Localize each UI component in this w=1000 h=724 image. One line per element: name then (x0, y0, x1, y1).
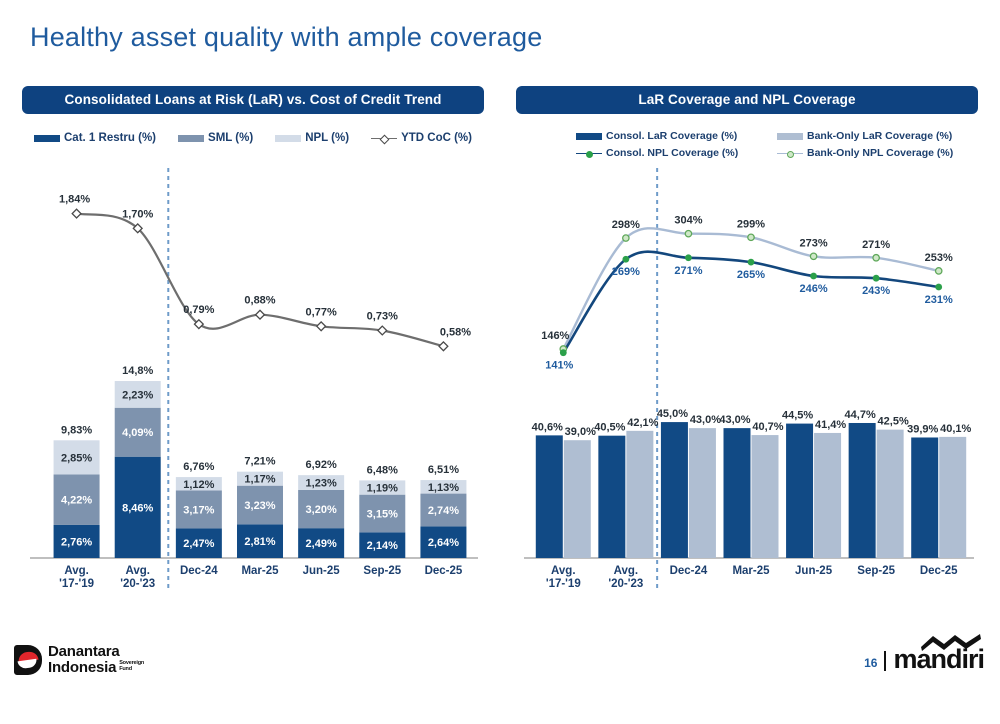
bar-label-consol-lar: 40,5% (594, 422, 625, 434)
x-axis-label: Dec-24 (180, 565, 218, 577)
consol-npl-marker (748, 259, 755, 266)
bank-only-npl-label: 271% (862, 239, 890, 251)
bar-segment-label: 2,76% (61, 536, 92, 548)
ytd-coc-line (77, 214, 444, 347)
bank-only-npl-label: 304% (674, 215, 702, 227)
consol-npl-label: 269% (612, 266, 640, 278)
bar-label-consol-lar: 44,7% (845, 409, 876, 421)
legend-line-marker-consol-npl-coverage (576, 149, 602, 158)
bar-segment-label: 2,64% (428, 537, 459, 549)
x-axis-label: Dec-24 (670, 565, 708, 577)
mandiri-logo: mandiri (893, 637, 984, 673)
consol-npl-label: 141% (545, 360, 573, 372)
ytd-coc-marker (439, 342, 448, 351)
bar-segment-label: 1,13% (428, 482, 459, 494)
bar-segment-label: 2,47% (183, 538, 214, 550)
bar-label-consol-lar: 45,0% (657, 408, 688, 420)
x-axis-label: Avg. (125, 565, 150, 577)
bar-segment-label: 1,12% (183, 479, 214, 491)
bank-only-npl-marker (810, 253, 816, 259)
x-axis-label: Dec-25 (425, 565, 463, 577)
consol-npl-label: 243% (862, 285, 890, 297)
footer-right-group: 16 mandiri (864, 637, 984, 673)
ytd-coc-marker (72, 209, 81, 218)
bar-label-consol-lar: 44,5% (782, 410, 813, 422)
bar-segment-label: 4,09% (122, 427, 153, 439)
bar-label-bank-only-lar: 42,1% (627, 417, 658, 429)
legend-label-ytd-coc: YTD CoC (%) (401, 132, 472, 144)
bar-consol-lar (598, 436, 625, 558)
bar-bank-only-lar (939, 437, 966, 558)
x-axis-label: Avg. (551, 565, 576, 577)
legend-item-bank-only-npl-coverage[interactable]: Bank-Only NPL Coverage (%) (777, 147, 978, 159)
legend-item-bank-only-lar-coverage[interactable]: Bank-Only LaR Coverage (%) (777, 130, 978, 142)
consol-npl-marker (622, 256, 629, 263)
legend-swatch-sml (178, 135, 204, 142)
bar-label-consol-lar: 43,0% (719, 414, 750, 426)
bar-label-bank-only-lar: 43,0% (690, 414, 721, 426)
danantara-logo-line1: Danantara (48, 644, 144, 659)
bar-segment-label: 1,23% (306, 478, 337, 490)
bar-segment-label: 2,85% (61, 452, 92, 464)
right-chart-svg: 40,6%39,0%40,5%42,1%45,0%43,0%43,0%40,7%… (516, 164, 978, 644)
bank-only-npl-marker (936, 268, 942, 274)
bar-segment-label: 3,17% (183, 504, 214, 516)
x-axis-label: '17-'19 (59, 578, 94, 590)
bar-bank-only-lar (564, 440, 591, 558)
consol-npl-label: 265% (737, 269, 765, 281)
legend-swatch-bank-only-lar-coverage (777, 133, 803, 140)
consol-npl-marker (810, 273, 817, 280)
ytd-coc-label: 1,70% (122, 208, 153, 220)
bar-segment-label: 2,49% (306, 538, 337, 550)
x-axis-label: '17-'19 (546, 578, 581, 590)
bar-bank-only-lar (752, 435, 779, 558)
legend-item-ytd-coc[interactable]: YTD CoC (%) (371, 132, 472, 144)
bar-consol-lar (536, 435, 563, 558)
bar-segment-label: 2,14% (367, 540, 398, 552)
bar-label-consol-lar: 39,9% (907, 423, 938, 435)
x-axis-label: Sep-25 (363, 565, 401, 577)
left-chart-header: Consolidated Loans at Risk (LaR) vs. Cos… (22, 86, 484, 114)
consol-npl-marker (560, 349, 567, 356)
legend-item-sml[interactable]: SML (%) (178, 132, 253, 144)
legend-swatch-cat1-restru (34, 135, 60, 142)
bar-segment-label: 2,81% (244, 536, 275, 548)
bar-label-bank-only-lar: 40,7% (752, 421, 783, 433)
x-axis-label: Jun-25 (303, 565, 341, 577)
bar-consol-lar (661, 422, 688, 558)
x-axis-label: Mar-25 (732, 565, 770, 577)
legend-label-bank-only-npl-coverage: Bank-Only NPL Coverage (%) (807, 147, 953, 159)
bar-label-bank-only-lar: 40,1% (940, 423, 971, 435)
consol-npl-marker (685, 254, 692, 261)
bar-total-label: 6,92% (306, 459, 337, 471)
consol-npl-marker (935, 284, 942, 291)
bar-segment-label: 3,23% (244, 500, 275, 512)
consol-npl-label: 246% (800, 283, 828, 295)
legend-label-cat1-restru: Cat. 1 Restru (%) (64, 132, 156, 144)
bar-consol-lar (849, 423, 876, 558)
bar-consol-lar (911, 437, 938, 558)
x-axis-label: '20-'23 (608, 578, 643, 590)
left-chart-svg: 2,76%4,22%2,85%9,83%8,46%4,09%2,23%14,8%… (22, 164, 484, 644)
bar-segment-label: 4,22% (61, 495, 92, 507)
bar-segment-label: 3,15% (367, 509, 398, 521)
legend-line-marker-ytd-coc (371, 134, 397, 143)
legend-label-consol-npl-coverage: Consol. NPL Coverage (%) (606, 147, 738, 159)
consol-npl-marker (873, 275, 880, 282)
right-chart-legend: Consol. LaR Coverage (%) Bank-Only LaR C… (516, 130, 978, 159)
legend-item-npl[interactable]: NPL (%) (275, 132, 349, 144)
bar-total-label: 7,21% (244, 456, 275, 468)
danantara-logo-line2: Indonesia (48, 660, 116, 675)
consol-npl-label: 231% (925, 294, 953, 306)
bank-only-npl-marker (873, 255, 879, 261)
bar-segment-label: 1,17% (244, 474, 275, 486)
x-axis-label: '20-'23 (120, 578, 155, 590)
bar-label-bank-only-lar: 41,4% (815, 419, 846, 431)
ytd-coc-label: 0,79% (183, 304, 214, 316)
footer-divider (884, 651, 886, 671)
ytd-coc-marker (256, 310, 265, 319)
bank-only-npl-label: 299% (737, 218, 765, 230)
x-axis-label: Avg. (64, 565, 89, 577)
legend-label-bank-only-lar-coverage: Bank-Only LaR Coverage (%) (807, 130, 952, 142)
mandiri-wave-icon (920, 633, 982, 651)
page-number: 16 (864, 656, 877, 673)
bank-only-npl-marker (685, 230, 691, 236)
right-chart-panel: LaR Coverage and NPL Coverage Consol. La… (516, 86, 978, 114)
legend-item-cat1-restru[interactable]: Cat. 1 Restru (%) (34, 132, 156, 144)
ytd-coc-label: 0,88% (244, 295, 275, 307)
x-axis-label: Dec-25 (920, 565, 958, 577)
bar-total-label: 9,83% (61, 424, 92, 436)
bar-bank-only-lar (689, 428, 716, 558)
bank-only-npl-marker (623, 235, 629, 241)
ytd-coc-label: 1,84% (59, 194, 90, 206)
legend-swatch-consol-lar-coverage (576, 133, 602, 140)
bar-segment-label: 8,46% (122, 502, 153, 514)
legend-item-consol-lar-coverage[interactable]: Consol. LaR Coverage (%) (576, 130, 777, 142)
consol-npl-label: 271% (674, 265, 702, 277)
bar-consol-lar (724, 428, 751, 558)
bar-total-label: 6,48% (367, 464, 398, 476)
danantara-mark-icon (14, 645, 42, 675)
bar-segment-label: 2,23% (122, 389, 153, 401)
bar-bank-only-lar (814, 433, 841, 558)
bank-only-npl-label: 253% (925, 252, 953, 264)
right-chart-header: LaR Coverage and NPL Coverage (516, 86, 978, 114)
bar-bank-only-lar (626, 431, 653, 558)
bank-only-npl-label: 273% (800, 237, 828, 249)
danantara-logo: Danantara Indonesia Sovereign Fund (14, 644, 144, 675)
legend-item-consol-npl-coverage[interactable]: Consol. NPL Coverage (%) (576, 147, 777, 159)
x-axis-label: Sep-25 (857, 565, 895, 577)
bar-total-label: 14,8% (122, 365, 153, 377)
page-title: Healthy asset quality with ample coverag… (30, 22, 542, 53)
x-axis-label: Avg. (614, 565, 639, 577)
danantara-logo-sub2: Fund (119, 667, 144, 673)
bar-segment-label: 1,19% (367, 483, 398, 495)
slide-footer: Danantara Indonesia Sovereign Fund 16 ma… (0, 633, 1000, 685)
legend-swatch-npl (275, 135, 301, 142)
bar-segment-label: 3,20% (306, 504, 337, 516)
ytd-coc-marker (317, 322, 326, 331)
left-chart-legend: Cat. 1 Restru (%) SML (%) NPL (%) YTD Co… (22, 132, 484, 144)
ytd-coc-label: 0,77% (306, 306, 337, 318)
bar-label-consol-lar: 40,6% (532, 421, 563, 433)
bar-consol-lar (786, 424, 813, 558)
legend-label-sml: SML (%) (208, 132, 253, 144)
bar-label-bank-only-lar: 42,5% (878, 416, 909, 428)
x-axis-label: Mar-25 (241, 565, 279, 577)
bar-total-label: 6,76% (183, 461, 214, 473)
legend-label-consol-lar-coverage: Consol. LaR Coverage (%) (606, 130, 737, 142)
ytd-coc-label: 0,58% (440, 326, 471, 338)
legend-label-npl: NPL (%) (305, 132, 349, 144)
ytd-coc-marker (378, 326, 387, 335)
x-axis-label: Jun-25 (795, 565, 833, 577)
bank-only-npl-marker (748, 234, 754, 240)
bank-only-npl-label: 298% (612, 219, 640, 231)
slide-root: Healthy asset quality with ample coverag… (0, 0, 1000, 685)
danantara-logo-text: Danantara Indonesia Sovereign Fund (48, 644, 144, 675)
bar-total-label: 6,51% (428, 464, 459, 476)
bar-segment-label: 2,74% (428, 505, 459, 517)
bank-only-npl-label: 146% (541, 330, 569, 342)
left-chart-panel: Consolidated Loans at Risk (LaR) vs. Cos… (22, 86, 484, 114)
bar-bank-only-lar (877, 430, 904, 558)
ytd-coc-label: 0,73% (367, 311, 398, 323)
legend-line-marker-bank-only-npl-coverage (777, 149, 803, 158)
bar-label-bank-only-lar: 39,0% (565, 426, 596, 438)
